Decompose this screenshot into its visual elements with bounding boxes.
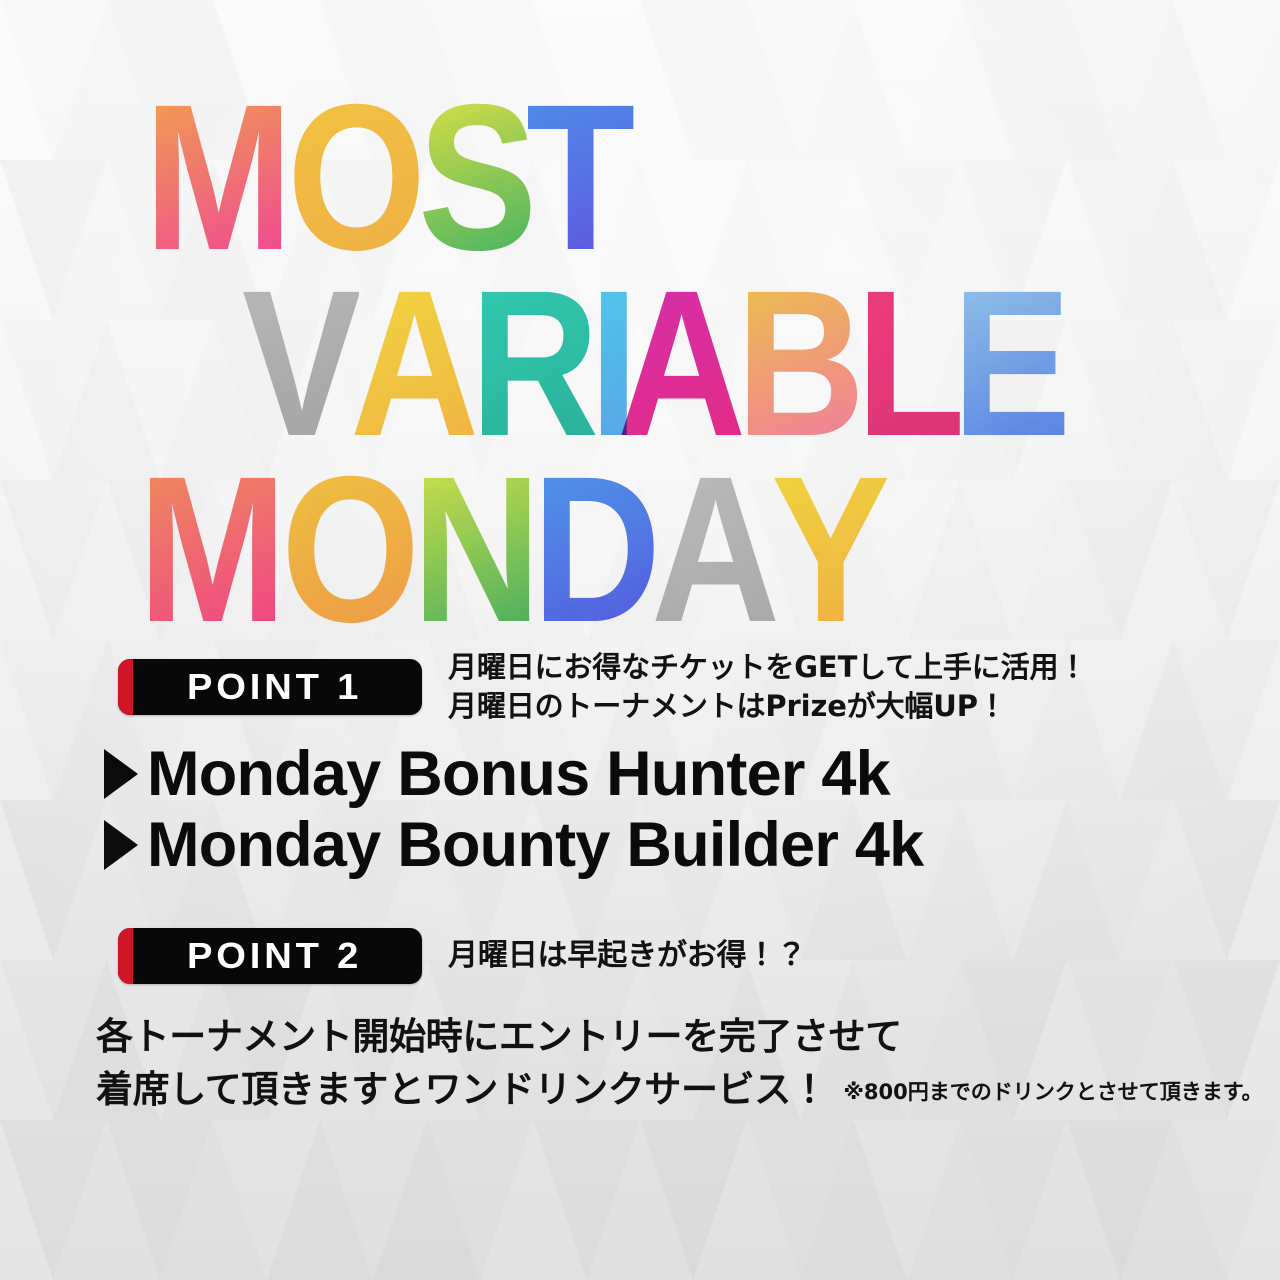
tournament-item[interactable]: Monday Bounty Builder 4k — [104, 810, 1280, 881]
content-section: POINT 1 月曜日にお得なチケットをGETして上手に活用！ 月曜日のトーナメ… — [0, 648, 1280, 1117]
point1-description: 月曜日にお得なチケットをGETして上手に活用！ 月曜日のトーナメントはPrize… — [448, 648, 1087, 725]
title-letter: Y — [771, 446, 888, 654]
point1-line-1: 月曜日にお得なチケットをGETして上手に活用！ — [448, 648, 1087, 687]
tournament-list: Monday Bonus Hunter 4k Monday Bounty Bui… — [104, 739, 1280, 880]
point1-badge: POINT 1 — [118, 659, 422, 715]
poster-canvas: M O S T V A R I A B L E M O N D A Y P — [0, 0, 1280, 1280]
point2-body-line-2-wrap: 着席して頂きますとワンドリンクサービス！※800円までのドリンクとさせて頂きます… — [96, 1063, 1280, 1116]
point2-badge-label: POINT 2 — [187, 935, 362, 977]
triangle-right-icon — [104, 749, 138, 799]
point2-note: ※800円までのドリンクとさせて頂きます。 — [844, 1080, 1263, 1104]
point2-description: 月曜日は早起きがお得！？ — [448, 936, 806, 976]
point1-line-2: 月曜日のトーナメントはPrizeが大幅UP！ — [448, 687, 1087, 726]
point2-line-1: 月曜日は早起きがお得！？ — [448, 936, 806, 976]
point2-badge: POINT 2 — [118, 928, 422, 984]
page-title: M O S T V A R I A B L E M O N D A Y — [0, 74, 1280, 634]
point2-header: POINT 2 月曜日は早起きがお得！？ — [118, 928, 1280, 984]
title-letter: N — [412, 446, 539, 654]
title-letter: A — [651, 446, 778, 654]
point2-body-line-1: 各トーナメント開始時にエントリーを完了させて — [96, 1010, 1280, 1063]
title-row-monday: M O N D A Y — [138, 446, 879, 654]
title-letter: E — [952, 260, 1069, 468]
point2-body: 各トーナメント開始時にエントリーを完了させて 着席して頂きますとワンドリンクサー… — [96, 1010, 1280, 1117]
point1-header: POINT 1 月曜日にお得なチケットをGETして上手に活用！ 月曜日のトーナメ… — [118, 648, 1280, 725]
title-letter: M — [138, 446, 285, 654]
point2-body-line-2: 着席して頂きますとワンドリンクサービス！ — [96, 1068, 828, 1111]
tournament-item[interactable]: Monday Bonus Hunter 4k — [104, 739, 1280, 810]
title-letter: D — [532, 446, 659, 654]
tournament-name: Monday Bonus Hunter 4k — [147, 739, 890, 810]
point1-badge-label: POINT 1 — [187, 666, 362, 708]
triangle-right-icon — [104, 820, 138, 870]
title-letter: O — [281, 446, 418, 654]
tournament-name: Monday Bounty Builder 4k — [147, 810, 923, 881]
